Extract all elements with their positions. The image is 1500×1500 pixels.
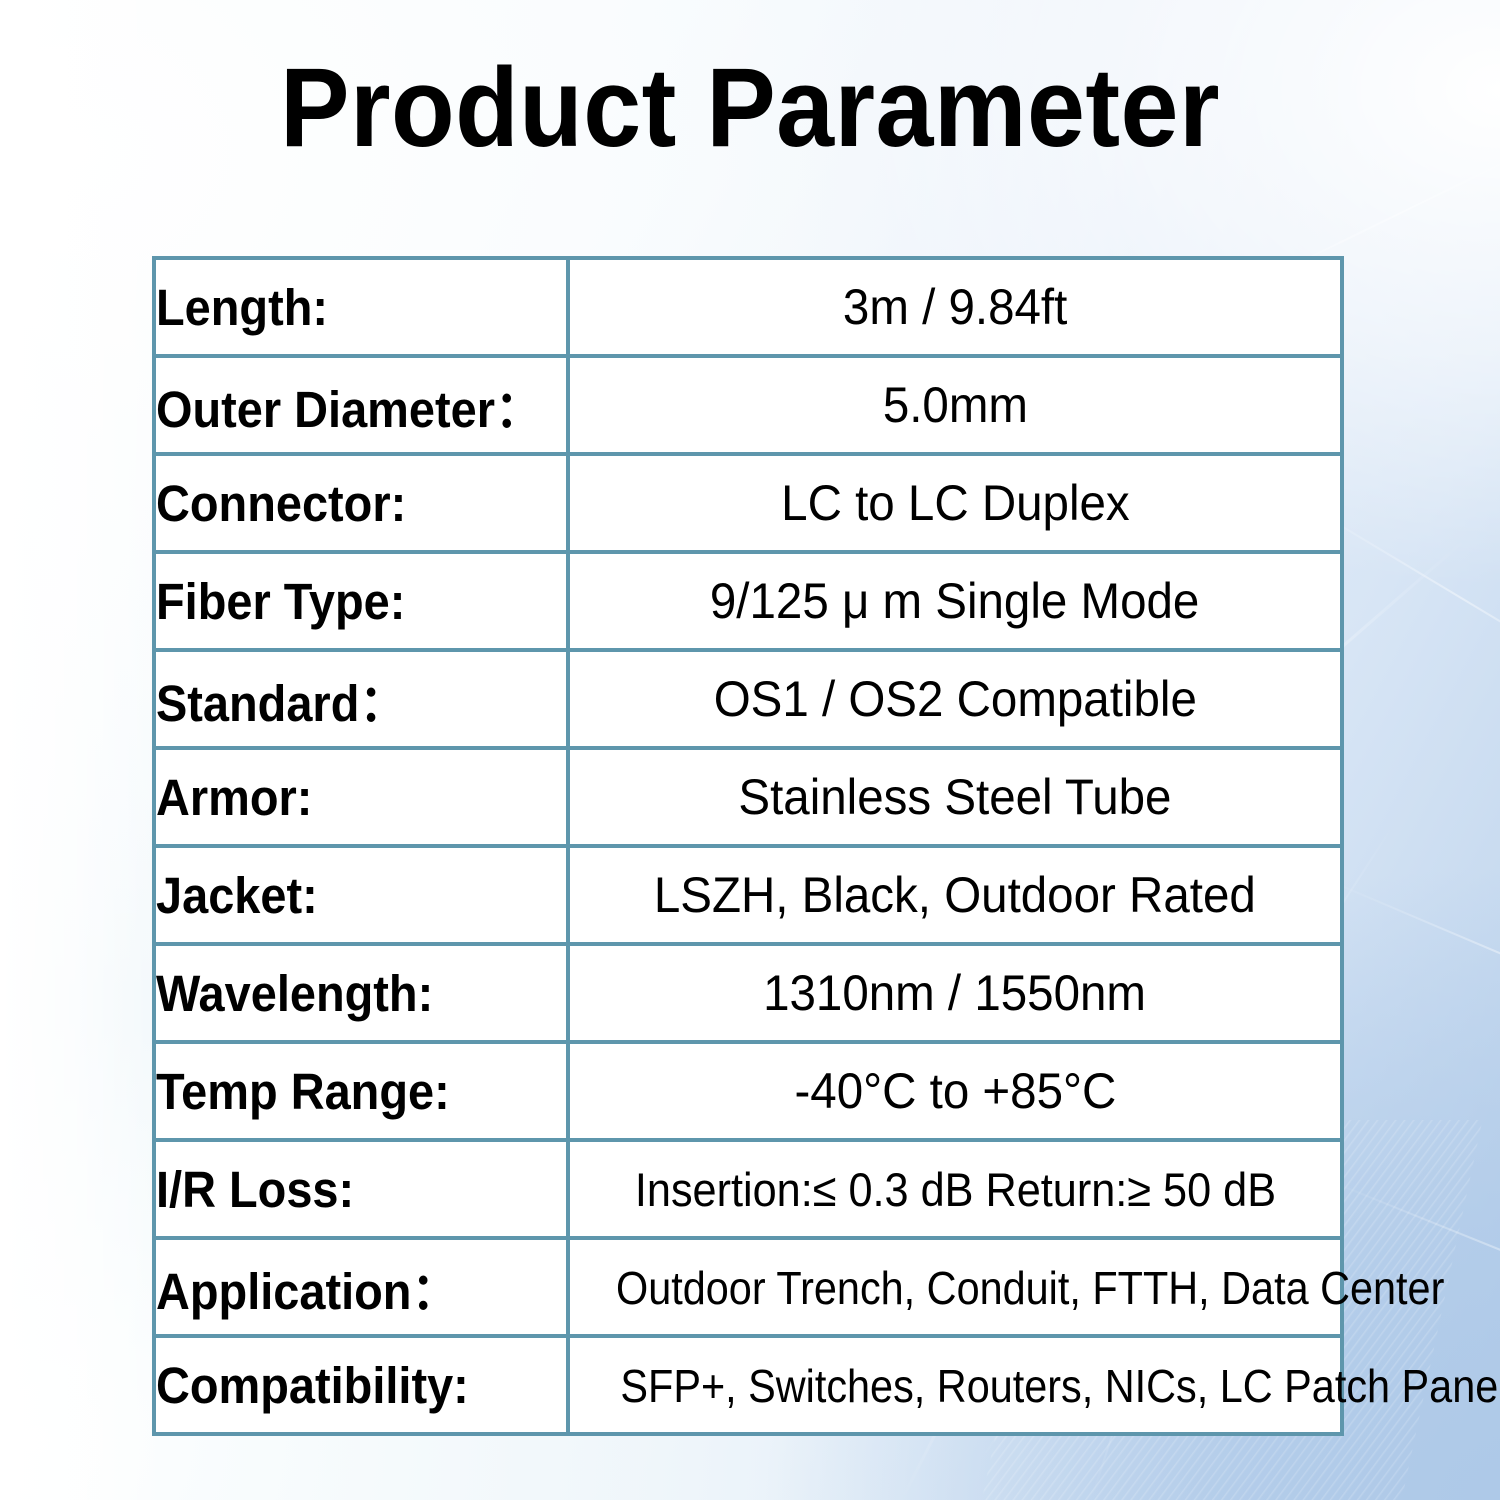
spec-value-text: SFP+, Switches, Routers, NICs, LC Patch …: [620, 1359, 1500, 1413]
spec-value-cell: 3m / 9.84ft: [568, 258, 1342, 356]
spec-label-cell: Jacket:: [154, 846, 568, 944]
table-row: Outer Diameter： 5.0mm: [154, 356, 1342, 454]
table-row: Jacket: LSZH, Black, Outdoor Rated: [154, 846, 1342, 944]
table-row: Fiber Type: 9/125 μ m Single Mode: [154, 552, 1342, 650]
spec-value-text: OS1 / OS2 Compatible: [713, 670, 1196, 728]
table-row: Application： Outdoor Trench, Conduit, FT…: [154, 1238, 1342, 1336]
spec-value-cell: LC to LC Duplex: [568, 454, 1342, 552]
spec-label-cell: Wavelength:: [154, 944, 568, 1042]
spec-label-cell: I/R Loss:: [154, 1140, 568, 1238]
spec-label-text: Application：: [156, 1250, 458, 1324]
spec-value-cell: 5.0mm: [568, 356, 1342, 454]
spec-label-text: Wavelength:: [156, 964, 433, 1023]
spec-label-cell: Temp Range:: [154, 1042, 568, 1140]
table-row: Wavelength: 1310nm / 1550nm: [154, 944, 1342, 1042]
specification-table: Length: 3m / 9.84ft Outer Diameter： 5.0m…: [152, 256, 1344, 1436]
spec-value-text: Outdoor Trench, Conduit, FTTH, Data Cent…: [616, 1261, 1444, 1315]
spec-value-cell: LSZH, Black, Outdoor Rated: [568, 846, 1342, 944]
spec-label-cell: Connector:: [154, 454, 568, 552]
table-row: Connector: LC to LC Duplex: [154, 454, 1342, 552]
spec-label-text: Fiber Type:: [156, 572, 405, 631]
spec-value-cell: 1310nm / 1550nm: [568, 944, 1342, 1042]
table-row: I/R Loss: Insertion:≤ 0.3 dB Return:≥ 50…: [154, 1140, 1342, 1238]
specification-table-body: Length: 3m / 9.84ft Outer Diameter： 5.0m…: [154, 258, 1342, 1434]
spec-label-text: Temp Range:: [156, 1062, 450, 1121]
product-parameter-page: Product Parameter Length: 3m / 9.84ft Ou…: [0, 0, 1500, 1500]
table-row: Compatibility: SFP+, Switches, Routers, …: [154, 1336, 1342, 1434]
spec-label-cell: Armor:: [154, 748, 568, 846]
table-row: Length: 3m / 9.84ft: [154, 258, 1342, 356]
page-title: Product Parameter: [53, 52, 1448, 164]
spec-value-cell: -40°C to +85°C: [568, 1042, 1342, 1140]
table-row: Armor: Stainless Steel Tube: [154, 748, 1342, 846]
spec-label-cell: Standard：: [154, 650, 568, 748]
spec-label-text: Jacket:: [156, 866, 318, 925]
spec-label-text: Outer Diameter：: [156, 368, 542, 442]
spec-value-text: 3m / 9.84ft: [843, 278, 1067, 336]
spec-label-text: I/R Loss:: [156, 1160, 354, 1219]
spec-value-text: Insertion:≤ 0.3 dB Return:≥ 50 dB: [634, 1162, 1275, 1217]
spec-label-cell: Length:: [154, 258, 568, 356]
spec-label-cell: Fiber Type:: [154, 552, 568, 650]
spec-label-text: Connector:: [156, 474, 406, 533]
spec-value-text: 5.0mm: [882, 376, 1027, 434]
spec-value-text: LSZH, Black, Outdoor Rated: [654, 866, 1256, 924]
spec-label-text: Length:: [156, 278, 328, 337]
table-row: Standard： OS1 / OS2 Compatible: [154, 650, 1342, 748]
spec-label-text: Standard：: [156, 662, 406, 736]
spec-value-text: Stainless Steel Tube: [738, 768, 1171, 826]
spec-label-text: Compatibility:: [156, 1356, 469, 1415]
spec-value-cell: SFP+, Switches, Routers, NICs, LC Patch …: [568, 1336, 1342, 1434]
spec-value-cell: Insertion:≤ 0.3 dB Return:≥ 50 dB: [568, 1140, 1342, 1238]
spec-value-cell: Stainless Steel Tube: [568, 748, 1342, 846]
spec-label-cell: Outer Diameter：: [154, 356, 568, 454]
spec-label-cell: Compatibility:: [154, 1336, 568, 1434]
spec-value-cell: Outdoor Trench, Conduit, FTTH, Data Cent…: [568, 1238, 1342, 1336]
spec-value-text: -40°C to +85°C: [794, 1062, 1116, 1120]
spec-label-cell: Application：: [154, 1238, 568, 1336]
table-row: Temp Range: -40°C to +85°C: [154, 1042, 1342, 1140]
spec-value-cell: 9/125 μ m Single Mode: [568, 552, 1342, 650]
spec-value-text: 9/125 μ m Single Mode: [710, 572, 1199, 630]
spec-value-text: LC to LC Duplex: [781, 474, 1130, 532]
spec-value-cell: OS1 / OS2 Compatible: [568, 650, 1342, 748]
spec-value-text: 1310nm / 1550nm: [764, 964, 1147, 1022]
spec-label-text: Armor:: [156, 768, 312, 827]
